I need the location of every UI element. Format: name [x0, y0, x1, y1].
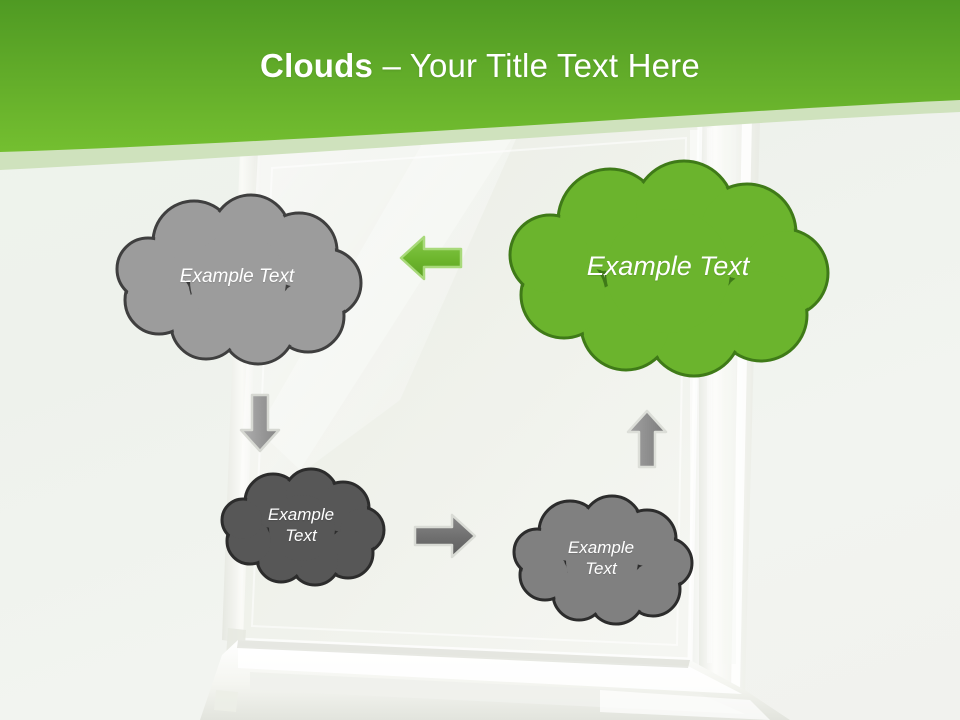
slide-title: Clouds – Your Title Text Here	[0, 47, 960, 85]
arrow-right-icon[interactable]	[412, 510, 478, 562]
arrow-left-icon[interactable]	[398, 232, 464, 284]
cloud-shape-gray-top-left[interactable]: Example Text	[108, 196, 366, 362]
arrow-down-icon[interactable]	[238, 392, 282, 454]
cloud-shape-green[interactable]: Example Text	[498, 163, 838, 373]
slide-header: Clouds – Your Title Text Here	[0, 0, 960, 185]
title-rest: – Your Title Text Here	[373, 47, 700, 84]
cloud-shape-gray-bottom-left[interactable]: Example Text	[216, 470, 386, 584]
title-strong: Clouds	[260, 47, 373, 84]
arrow-up-icon[interactable]	[625, 408, 669, 470]
cloud-shape-gray-bottom-center[interactable]: Example Text	[508, 497, 694, 623]
slide-canvas: Clouds – Your Title Text Here	[0, 0, 960, 720]
